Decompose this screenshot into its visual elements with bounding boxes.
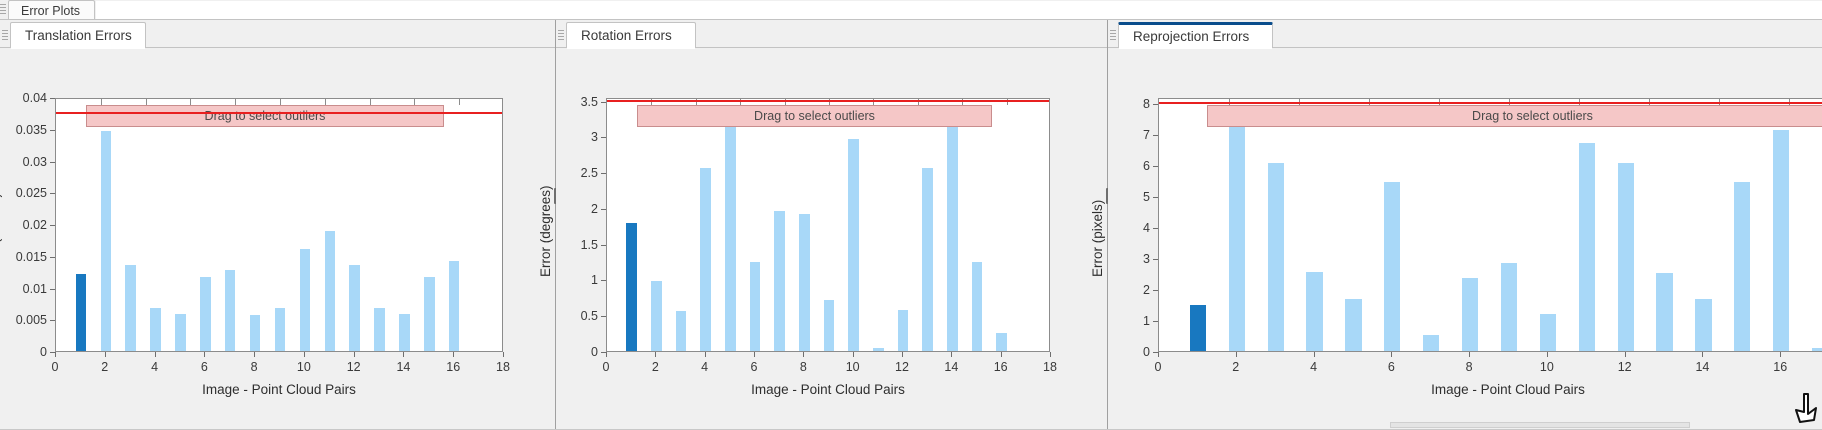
x-axis-tick <box>1780 352 1781 357</box>
x-axis-tick-label: 10 <box>297 360 311 374</box>
plot-area[interactable]: Drag to select outliers <box>55 98 503 352</box>
x-axis-tick-label: 10 <box>1540 360 1554 374</box>
bar[interactable] <box>922 168 932 351</box>
inner-tab-bar: Translation Errors <box>0 20 556 48</box>
x-axis-tick <box>655 352 656 357</box>
y-axis-tick-label: 0 <box>0 345 47 359</box>
x-axis-tick <box>1050 352 1051 357</box>
chart-1: Drag to select outliers00.0050.010.0150.… <box>0 48 556 430</box>
bar[interactable] <box>225 270 235 351</box>
bar[interactable] <box>101 131 111 351</box>
bar-series <box>56 99 502 351</box>
y-axis-tick <box>1153 104 1158 105</box>
top-tick <box>459 99 460 105</box>
y-axis-tick-label: 1 <box>1102 314 1150 328</box>
y-axis-tick <box>601 209 606 210</box>
outlier-slider-label: Drag to select outliers <box>754 109 875 123</box>
x-axis-tick <box>304 352 305 357</box>
bar[interactable] <box>848 139 858 352</box>
x-axis-tick-label: 6 <box>1388 360 1395 374</box>
y-axis-tick <box>601 316 606 317</box>
x-axis-title: Image - Point Cloud Pairs <box>606 382 1050 397</box>
bar[interactable] <box>1462 278 1478 351</box>
y-axis-tick <box>1153 321 1158 322</box>
y-axis-tick-label: 1 <box>550 273 598 287</box>
bar[interactable] <box>700 168 710 351</box>
resize-cursor-icon <box>1786 388 1820 428</box>
x-axis-tick <box>754 352 755 357</box>
y-axis-tick <box>601 245 606 246</box>
y-axis-tick-label: 0.015 <box>0 250 47 264</box>
y-axis-tick-label: 7 <box>1102 128 1150 142</box>
x-axis-tick <box>803 352 804 357</box>
x-axis-tick-label: 6 <box>751 360 758 374</box>
x-axis-tick <box>204 352 205 357</box>
chart-panel-2: Rotation ErrorsDrag to select outliers00… <box>556 20 1108 430</box>
y-axis-tick <box>50 289 55 290</box>
inner-tab-label: Rotation Errors <box>581 28 672 43</box>
outer-tab-filler <box>96 1 1822 21</box>
x-axis-tick-label: 16 <box>994 360 1008 374</box>
bar-series <box>1159 99 1822 351</box>
y-axis-tick-label: 0.035 <box>0 123 47 137</box>
bar[interactable] <box>1268 163 1284 351</box>
tab-reprojection errors[interactable]: Reprojection Errors <box>1118 22 1273 48</box>
y-axis-tick <box>601 102 606 103</box>
bar[interactable] <box>250 315 260 351</box>
chart-panel-3: Reprojection ErrorsDrag to select outlie… <box>1108 20 1822 430</box>
tab-error-plots[interactable]: Error Plots <box>8 0 95 20</box>
x-axis-tick-label: 0 <box>1155 360 1162 374</box>
bar[interactable] <box>996 333 1006 351</box>
bar[interactable] <box>626 223 636 351</box>
y-axis-tick <box>1153 259 1158 260</box>
y-axis-tick <box>50 130 55 131</box>
bar[interactable] <box>1345 299 1361 351</box>
y-axis-tick-label: 0.005 <box>0 313 47 327</box>
bar[interactable] <box>750 262 760 351</box>
x-axis-tick <box>1314 352 1315 357</box>
y-axis-tick <box>50 225 55 226</box>
bar[interactable] <box>424 277 434 351</box>
tab-error-plots-label: Error Plots <box>21 4 80 18</box>
x-axis-tick <box>1391 352 1392 357</box>
x-axis-tick-label: 4 <box>701 360 708 374</box>
chart-3: Drag to select outliers01234567802468101… <box>1108 48 1822 430</box>
bar[interactable] <box>1501 263 1517 351</box>
y-axis-title: Error (meters) <box>0 193 2 277</box>
bar[interactable] <box>200 277 210 351</box>
error-plots-window: Error Plots Translation ErrorsDrag to se… <box>0 0 1822 430</box>
outlier-selection-slider[interactable]: Drag to select outliers <box>637 105 992 127</box>
x-axis-tick <box>1547 352 1548 357</box>
y-axis-tick <box>50 98 55 99</box>
outlier-threshold-line[interactable] <box>56 112 502 114</box>
y-axis-tick <box>50 162 55 163</box>
y-axis-tick-label: 2 <box>1102 283 1150 297</box>
y-axis-tick-label: 0.03 <box>0 155 47 169</box>
tab-rotation errors[interactable]: Rotation Errors <box>566 22 696 48</box>
outlier-selection-slider[interactable]: Drag to select outliers <box>86 105 444 127</box>
bar[interactable] <box>1306 272 1322 351</box>
x-axis-tick <box>503 352 504 357</box>
x-axis-tick-label: 10 <box>846 360 860 374</box>
bar[interactable] <box>972 262 982 351</box>
outlier-threshold-line[interactable] <box>1159 102 1822 104</box>
y-axis-tick-label: 0 <box>550 345 598 359</box>
inner-tab-bar: Reprojection Errors <box>1108 20 1822 48</box>
y-axis-tick-label: 2 <box>550 202 598 216</box>
y-axis-tick <box>1153 228 1158 229</box>
bar[interactable] <box>1773 130 1789 351</box>
plot-area[interactable]: Drag to select outliers <box>606 98 1050 352</box>
x-axis-tick <box>105 352 106 357</box>
outer-tab-bar: Error Plots <box>0 0 1822 20</box>
bar[interactable] <box>1540 314 1556 351</box>
bar[interactable] <box>1579 143 1595 351</box>
drag-grip-icon[interactable] <box>2 30 8 41</box>
x-axis-tick <box>354 352 355 357</box>
inner-tab-label: Translation Errors <box>25 28 132 43</box>
y-axis-tick-label: 3 <box>1102 252 1150 266</box>
plot-area[interactable]: Drag to select outliers <box>1158 98 1822 352</box>
bar[interactable] <box>125 265 135 351</box>
bar[interactable] <box>676 311 686 351</box>
x-axis-tick-label: 14 <box>396 360 410 374</box>
y-axis-tick <box>50 320 55 321</box>
x-axis-title: Image - Point Cloud Pairs <box>55 382 503 397</box>
x-axis-tick-label: 6 <box>201 360 208 374</box>
y-axis-tick-label: 5 <box>1102 190 1150 204</box>
bar[interactable] <box>725 120 735 351</box>
bar[interactable] <box>1734 182 1750 351</box>
bar[interactable] <box>1812 348 1822 351</box>
bar[interactable] <box>275 308 285 351</box>
y-axis-tick-label: 2.5 <box>550 166 598 180</box>
outlier-slider-label: Drag to select outliers <box>1472 109 1593 123</box>
bar[interactable] <box>449 261 459 351</box>
bar[interactable] <box>175 314 185 351</box>
x-axis-tick <box>55 352 56 357</box>
y-axis-tick-label: 0.04 <box>0 91 47 105</box>
bar[interactable] <box>774 211 784 351</box>
x-axis-tick-label: 8 <box>251 360 258 374</box>
plot-inner: Drag to select outliers <box>607 99 1049 351</box>
x-axis-tick-label: 2 <box>1232 360 1239 374</box>
x-axis-tick-label: 0 <box>52 360 59 374</box>
drag-grip-icon[interactable] <box>558 30 564 41</box>
x-axis-tick <box>403 352 404 357</box>
y-axis-tick-label: 0 <box>1102 345 1150 359</box>
y-axis-tick <box>601 280 606 281</box>
bar[interactable] <box>325 231 335 351</box>
x-axis-tick <box>155 352 156 357</box>
y-axis-title: Error (pixels) <box>1090 200 1105 277</box>
x-axis-tick <box>705 352 706 357</box>
x-axis-tick-label: 18 <box>1043 360 1057 374</box>
x-axis-title: Image - Point Cloud Pairs <box>1158 382 1822 397</box>
x-axis-tick <box>1469 352 1470 357</box>
x-axis-tick <box>1158 352 1159 357</box>
x-axis-tick-label: 12 <box>1618 360 1632 374</box>
x-axis-tick <box>1001 352 1002 357</box>
x-axis-tick <box>951 352 952 357</box>
x-axis-tick-label: 2 <box>101 360 108 374</box>
y-axis-tick-label: 1.5 <box>550 238 598 252</box>
x-axis-tick-label: 8 <box>800 360 807 374</box>
bar[interactable] <box>824 300 834 351</box>
bar[interactable] <box>799 214 809 351</box>
bar[interactable] <box>898 310 908 351</box>
y-axis-tick-label: 8 <box>1102 97 1150 111</box>
y-axis-tick-label: 4 <box>1102 221 1150 235</box>
bar[interactable] <box>399 314 409 351</box>
x-axis-tick <box>606 352 607 357</box>
chart-2: Drag to select outliers00.511.522.533.50… <box>556 48 1108 430</box>
chart-panel-1: Translation ErrorsDrag to select outlier… <box>0 20 556 430</box>
x-axis-tick-label: 18 <box>496 360 510 374</box>
y-axis-tick-label: 0.5 <box>550 309 598 323</box>
bar[interactable] <box>947 120 957 351</box>
x-axis-tick <box>902 352 903 357</box>
x-axis-tick-label: 4 <box>1310 360 1317 374</box>
y-axis-tick-label: 0.01 <box>0 282 47 296</box>
x-axis-tick-label: 12 <box>895 360 909 374</box>
y-axis-tick <box>601 173 606 174</box>
y-axis-tick-label: 6 <box>1102 159 1150 173</box>
y-axis-tick <box>1153 166 1158 167</box>
tab-translation errors[interactable]: Translation Errors <box>10 22 146 48</box>
x-axis-tick <box>1236 352 1237 357</box>
y-axis-tick <box>1153 197 1158 198</box>
y-axis-title: Error (degrees) <box>538 185 553 277</box>
y-axis-tick-label: 3 <box>550 130 598 144</box>
y-axis-tick <box>50 193 55 194</box>
bar[interactable] <box>1618 163 1634 351</box>
x-axis-tick <box>453 352 454 357</box>
bar[interactable] <box>1656 273 1672 351</box>
horizontal-scrollbar[interactable] <box>1390 422 1690 428</box>
y-axis-tick <box>1153 290 1158 291</box>
chart-panel-row: Translation ErrorsDrag to select outlier… <box>0 20 1822 430</box>
bar[interactable] <box>300 249 310 351</box>
x-axis-tick-label: 16 <box>446 360 460 374</box>
bar[interactable] <box>1229 123 1245 351</box>
outlier-selection-slider[interactable]: Drag to select outliers <box>1207 105 1822 127</box>
x-axis-tick <box>1625 352 1626 357</box>
y-axis-tick <box>50 257 55 258</box>
y-axis-tick-label: 0.025 <box>0 186 47 200</box>
x-axis-tick-label: 2 <box>652 360 659 374</box>
bar[interactable] <box>150 308 160 351</box>
bar[interactable] <box>1423 335 1439 351</box>
drag-grip-icon[interactable] <box>1110 30 1116 41</box>
outlier-threshold-line[interactable] <box>607 100 1049 102</box>
bar[interactable] <box>374 308 384 351</box>
inner-tab-bar: Rotation Errors <box>556 20 1108 48</box>
y-axis-tick-label: 3.5 <box>550 95 598 109</box>
bar[interactable] <box>873 348 883 351</box>
plot-inner: Drag to select outliers <box>1159 99 1822 351</box>
bar[interactable] <box>651 281 661 351</box>
x-axis-tick-label: 14 <box>944 360 958 374</box>
y-axis-tick <box>1153 135 1158 136</box>
x-axis-tick <box>1702 352 1703 357</box>
plot-inner: Drag to select outliers <box>56 99 502 351</box>
x-axis-tick <box>853 352 854 357</box>
y-axis-tick <box>601 137 606 138</box>
inner-tab-label: Reprojection Errors <box>1133 29 1249 44</box>
bar[interactable] <box>349 265 359 351</box>
x-axis-tick-label: 0 <box>603 360 610 374</box>
bar[interactable] <box>1190 305 1206 351</box>
bar[interactable] <box>1384 182 1400 351</box>
drag-grip-icon[interactable] <box>0 4 6 15</box>
y-axis-tick-label: 0.02 <box>0 218 47 232</box>
bar[interactable] <box>76 274 86 351</box>
bar[interactable] <box>1695 299 1711 351</box>
x-axis-tick <box>254 352 255 357</box>
bar-series <box>607 99 1049 351</box>
x-axis-tick-label: 16 <box>1773 360 1787 374</box>
x-axis-tick-label: 8 <box>1466 360 1473 374</box>
x-axis-tick-label: 4 <box>151 360 158 374</box>
x-axis-tick-label: 12 <box>347 360 361 374</box>
x-axis-tick-label: 14 <box>1695 360 1709 374</box>
